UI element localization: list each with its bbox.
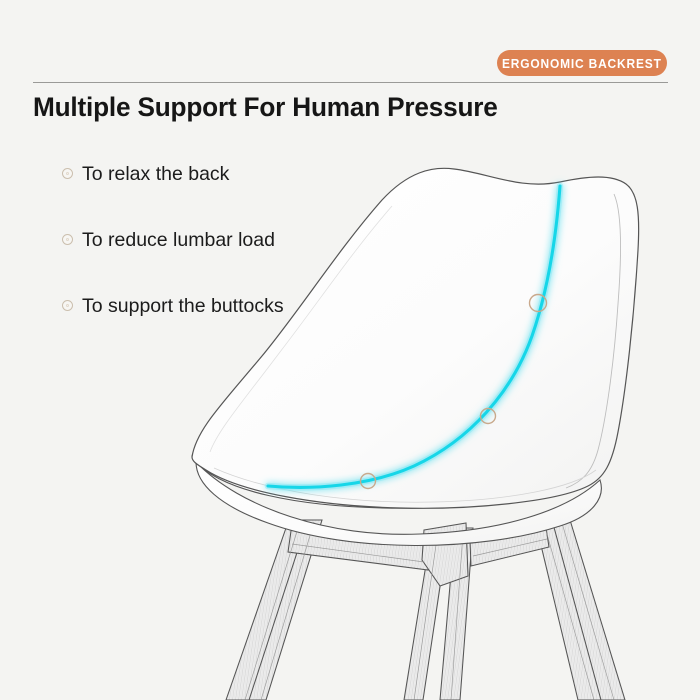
chair-seat	[192, 416, 604, 546]
leg-inner-lines	[245, 520, 614, 700]
list-item-label: To support the buttocks	[82, 295, 284, 317]
support-point-backrest	[530, 295, 547, 312]
list-item: To reduce lumbar load	[62, 229, 392, 295]
badge-label: ERGONOMIC BACKREST	[502, 56, 662, 71]
bullet-ring-icon	[62, 300, 73, 311]
list-item: To support the buttocks	[62, 295, 392, 361]
support-point-seat	[361, 474, 376, 489]
brace-right	[470, 521, 549, 566]
leg-center-right	[440, 528, 473, 700]
benefit-list: To relax the back To reduce lumbar load …	[62, 163, 392, 361]
bullet-ring-icon	[62, 168, 73, 179]
backrest-bottom-shadow	[214, 468, 596, 502]
product-infographic-canvas: ERGONOMIC BACKREST Multiple Support For …	[0, 0, 700, 700]
ergonomic-backrest-badge: ERGONOMIC BACKREST	[497, 50, 667, 76]
leg-far-right	[552, 520, 625, 700]
chair-cross-brace	[288, 521, 549, 586]
seat-cushion-top	[192, 416, 604, 508]
leg-center-left	[404, 540, 447, 700]
backrest-right-inner-edge	[566, 194, 621, 488]
list-item-label: To relax the back	[82, 163, 229, 185]
leg-front-left	[226, 528, 305, 700]
list-item: To relax the back	[62, 163, 392, 229]
page-title: Multiple Support For Human Pressure	[33, 92, 498, 123]
seat-cushion-seam-2	[214, 468, 602, 504]
support-point-lumbar	[481, 409, 496, 424]
seat-cushion-front-edge	[192, 420, 328, 456]
leg-right	[534, 516, 605, 700]
header-divider	[33, 82, 668, 83]
chair-legs	[226, 516, 625, 700]
seat-cushion-inner-contour	[225, 444, 598, 476]
brace-center-block	[422, 523, 468, 586]
brace-left	[288, 524, 428, 570]
list-item-label: To reduce lumbar load	[82, 229, 275, 251]
seat-underside	[196, 462, 601, 546]
bullet-ring-icon	[62, 234, 73, 245]
leg-back-left	[239, 520, 322, 700]
seat-cushion-seam	[205, 459, 600, 494]
